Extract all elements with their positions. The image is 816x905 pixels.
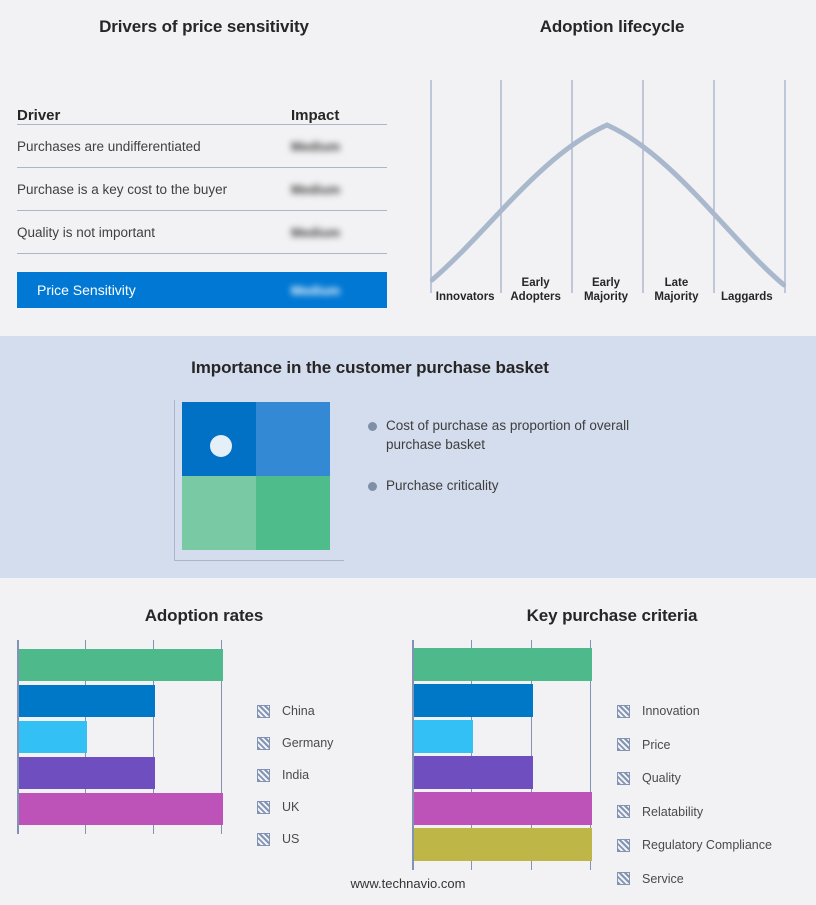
purchase-basket-matrix [182,402,330,550]
hatch-swatch-icon [617,805,630,818]
bullet-dot-icon [368,482,377,491]
bar-relatability [414,756,533,789]
bar-price [414,684,533,717]
hatch-swatch-icon [617,772,630,785]
legend-label: Innovation [642,704,700,718]
adoption-bell-curve [432,125,784,285]
matrix-quadrant-bottom-left [182,476,256,550]
purchase-basket-panel-title: Importance in the customer purchase bask… [0,358,740,378]
stage-line-2: Majority [571,291,641,305]
bar-service [414,828,592,861]
driver-label: Purchase is a key cost to the buyer [17,182,291,197]
table-row: Quality is not important Medium [17,211,387,254]
bar-india [19,721,87,753]
lifecycle-stage-laggards: Laggards [712,265,782,309]
stage-line-2: Majority [641,291,711,305]
impact-value: Medium [291,283,387,298]
legend-label: India [282,768,309,782]
stage-line-1: Early [571,277,641,291]
price-sensitivity-summary-row: Price Sensitivity Medium [17,272,387,308]
legend-label: Purchase criticality [386,476,499,495]
lifecycle-stage-early-majority: Early Majority [571,265,641,309]
lifecycle-stage-early-adopters: Early Adopters [500,265,570,309]
legend-item: Innovation [617,704,700,718]
bar-innovation [414,648,592,681]
hatch-swatch-icon [257,833,270,846]
legend-item: Germany [257,736,333,750]
legend-item: Regulatory Compliance [617,838,772,852]
bar-uk [19,757,155,789]
matrix-quadrant-bottom-right [256,476,330,550]
bar-china [19,649,223,681]
purchase-criteria-chart [412,640,590,870]
bar-germany [19,685,155,717]
legend-item: Quality [617,771,681,785]
legend-label: US [282,832,299,846]
legend-label: Relatability [642,805,703,819]
driver-label: Purchases are undifferentiated [17,139,291,154]
drivers-table: Driver Impact Purchases are undifferenti… [17,90,387,254]
legend-label: UK [282,800,299,814]
adoption-rates-chart [17,640,221,834]
drivers-panel: Drivers of price sensitivity Driver Impa… [0,0,408,336]
hatch-swatch-icon [257,769,270,782]
legend-item: UK [257,800,299,814]
bullet-dot-icon [368,422,377,431]
lifecycle-panel-title: Adoption lifecycle [408,17,816,37]
bar-regulatory-compliance [414,792,592,825]
footer-url: www.technavio.com [0,876,816,891]
adoption-rates-title: Adoption rates [0,606,408,626]
infographic-page: Drivers of price sensitivity Driver Impa… [0,0,816,902]
matrix-x-axis [174,560,344,561]
legend-item: Price [617,738,670,752]
legend-label: Germany [282,736,333,750]
hatch-swatch-icon [617,705,630,718]
stage-line-2: Laggards [712,291,782,305]
lifecycle-panel: Adoption lifecycle Innovators [408,0,816,336]
legend-item: US [257,832,299,846]
legend-label: Price [642,738,670,752]
lifecycle-stage-labels: Innovators Early Adopters Early Majority… [430,265,782,309]
matrix-y-axis [174,400,175,560]
bar-us [19,793,223,825]
legend-label: Quality [642,771,681,785]
lifecycle-curve-svg [430,80,786,295]
lifecycle-stage-late-majority: Late Majority [641,265,711,309]
drivers-panel-title: Drivers of price sensitivity [0,17,408,37]
legend-item: China [257,704,315,718]
stage-line-1: Early [500,277,570,291]
impact-value: Medium [291,182,387,197]
purchase-criteria-panel: Key purchase criteria InnovationPriceQua… [408,578,816,902]
legend-label: China [282,704,315,718]
hatch-swatch-icon [617,738,630,751]
hatch-swatch-icon [617,839,630,852]
driver-label: Price Sensitivity [17,282,291,298]
column-header-driver: Driver [17,107,291,124]
table-row: Purchases are undifferentiated Medium [17,125,387,168]
legend-item: Relatability [617,805,703,819]
impact-value: Medium [291,139,387,154]
adoption-rates-panel: Adoption rates ChinaGermanyIndiaUKUS [0,578,408,902]
legend-label: Cost of purchase as proportion of overal… [386,416,634,454]
matrix-position-marker [210,435,232,457]
stage-line-1: Late [641,277,711,291]
list-item: Purchase criticality [368,476,668,495]
list-item: Cost of purchase as proportion of overal… [368,416,668,454]
lifecycle-stage-innovators: Innovators [430,265,500,309]
hatch-swatch-icon [257,705,270,718]
driver-label: Quality is not important [17,225,291,240]
hatch-swatch-icon [257,801,270,814]
drivers-table-header: Driver Impact [17,90,387,125]
legend-label: Regulatory Compliance [642,838,772,852]
hatch-swatch-icon [257,737,270,750]
lifecycle-gridlines [431,80,785,293]
purchase-criteria-title: Key purchase criteria [408,606,816,626]
table-row: Purchase is a key cost to the buyer Medi… [17,168,387,211]
stage-line-2: Adopters [500,291,570,305]
legend-item: India [257,768,309,782]
matrix-quadrant-top-right [256,402,330,476]
column-header-impact: Impact [291,107,387,124]
purchase-basket-legend: Cost of purchase as proportion of overal… [368,416,668,517]
purchase-criteria-legend: InnovationPriceQualityRelatabilityRegula… [617,704,797,905]
impact-value: Medium [291,225,387,240]
bar-quality [414,720,473,753]
stage-line-2: Innovators [430,291,500,305]
